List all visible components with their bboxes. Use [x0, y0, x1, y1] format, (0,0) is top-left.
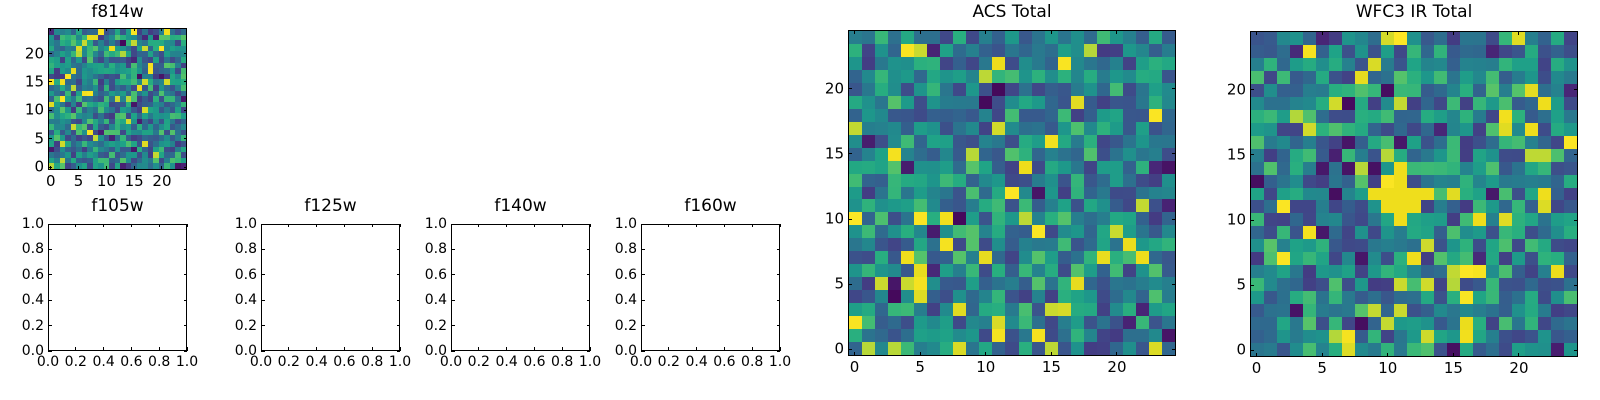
x-tick-label-wfc3-0: 0 [1252, 361, 1262, 376]
x-tick-f125w-1 [288, 347, 289, 351]
y-tick-f160w-1 [641, 325, 645, 326]
x-tick-top-acs-4 [1116, 30, 1117, 34]
y-tick-label-f140w-3: 0.6 [409, 268, 447, 282]
heatmap-wfc3-ir-total [1251, 32, 1577, 356]
y-tick-wfc3-3 [1250, 154, 1254, 155]
x-tick-wfc3-1 [1322, 353, 1323, 357]
y-tick-f814w-0 [48, 167, 52, 168]
y-tick-label-wfc3-4: 20 [1208, 82, 1246, 97]
panel-f814w: f814w [48, 4, 187, 170]
y-tick-f814w-1 [48, 138, 52, 139]
x-tick-label-wfc3-4: 20 [1509, 361, 1528, 376]
panel-acs-total: ACS Total [848, 4, 1176, 356]
x-tick-f105w-3 [131, 347, 132, 351]
x-tick-label-acs-0: 0 [850, 360, 860, 375]
y-tick-label-wfc3-3: 15 [1208, 147, 1246, 162]
plot-area-f125w[interactable] [261, 224, 400, 351]
y-tick-f105w-1 [48, 325, 52, 326]
x-tick-top-f814w-0 [50, 28, 51, 31]
y-tick-f140w-2 [451, 300, 455, 301]
x-tick-top-f140w-1 [478, 224, 479, 227]
x-tick-f105w-1 [75, 347, 76, 351]
y-tick-label-acs-1: 5 [806, 277, 844, 292]
y-tick-label-f125w-0: 0.0 [219, 344, 257, 358]
y-tick-label-wfc3-1: 5 [1208, 278, 1246, 293]
y-tick-right-acs-2 [1172, 219, 1176, 220]
y-tick-right-f105w-2 [184, 300, 187, 301]
panel-title-f105w: f105w [48, 198, 187, 215]
y-tick-wfc3-1 [1250, 285, 1254, 286]
x-tick-label-f140w-3: 0.6 [523, 355, 545, 369]
x-tick-wfc3-0 [1256, 353, 1257, 357]
x-tick-label-acs-3: 15 [1042, 360, 1061, 375]
x-tick-label-f160w-1: 0.2 [658, 355, 680, 369]
y-tick-right-f160w-5 [777, 224, 780, 225]
y-tick-label-wfc3-0: 0 [1208, 343, 1246, 358]
y-tick-label-f105w-0: 0.0 [6, 344, 44, 358]
y-tick-acs-4 [848, 88, 852, 89]
y-tick-right-f125w-0 [397, 351, 400, 352]
x-tick-label-f814w-0: 0 [46, 174, 56, 189]
x-tick-label-acs-2: 10 [976, 360, 995, 375]
x-tick-top-f160w-3 [724, 224, 725, 227]
x-tick-label-f140w-5: 1.0 [579, 355, 601, 369]
x-tick-f814w-1 [78, 166, 79, 170]
x-tick-top-f125w-0 [261, 224, 262, 227]
y-tick-right-f105w-5 [184, 224, 187, 225]
x-tick-label-f140w-2: 0.4 [495, 355, 517, 369]
x-tick-acs-3 [1051, 352, 1052, 356]
plot-area-f814w[interactable] [48, 28, 187, 170]
y-tick-label-acs-2: 10 [806, 212, 844, 227]
panel-title-f814w: f814w [48, 4, 187, 21]
y-tick-right-f140w-5 [587, 224, 590, 225]
x-tick-label-f814w-1: 5 [74, 174, 84, 189]
y-tick-acs-2 [848, 219, 852, 220]
y-tick-f105w-0 [48, 351, 52, 352]
heatmap-f814w [49, 29, 186, 169]
x-tick-label-f125w-2: 0.4 [305, 355, 327, 369]
x-tick-f160w-4 [752, 347, 753, 351]
y-tick-right-f814w-1 [184, 138, 187, 139]
x-tick-top-f814w-2 [106, 28, 107, 31]
y-tick-right-f814w-2 [184, 110, 187, 111]
y-tick-f160w-0 [641, 351, 645, 352]
x-tick-f814w-2 [106, 166, 107, 170]
y-tick-label-acs-3: 15 [806, 146, 844, 161]
x-tick-top-f125w-1 [288, 224, 289, 227]
y-tick-label-acs-0: 0 [806, 342, 844, 357]
y-tick-wfc3-2 [1250, 220, 1254, 221]
x-tick-label-wfc3-2: 10 [1378, 361, 1397, 376]
x-tick-acs-1 [920, 352, 921, 356]
x-tick-f105w-2 [103, 347, 104, 351]
x-tick-top-f125w-3 [344, 224, 345, 227]
x-tick-top-f140w-2 [506, 224, 507, 227]
y-tick-label-f105w-1: 0.2 [6, 319, 44, 333]
x-tick-f814w-4 [161, 166, 162, 170]
x-tick-top-f814w-4 [161, 28, 162, 31]
y-tick-wfc3-4 [1250, 89, 1254, 90]
x-tick-top-wfc3-0 [1256, 31, 1257, 35]
y-tick-label-f814w-3: 15 [6, 74, 44, 89]
x-tick-f140w-3 [534, 347, 535, 351]
y-tick-label-f125w-2: 0.4 [219, 293, 257, 307]
x-tick-label-f160w-5: 1.0 [769, 355, 791, 369]
y-tick-right-acs-0 [1172, 349, 1176, 350]
y-tick-acs-1 [848, 284, 852, 285]
y-tick-label-f125w-5: 1.0 [219, 217, 257, 231]
y-tick-f125w-5 [261, 224, 265, 225]
y-tick-acs-3 [848, 153, 852, 154]
x-tick-top-f814w-3 [134, 28, 135, 31]
x-tick-acs-4 [1116, 352, 1117, 356]
plot-area-f105w[interactable] [48, 224, 187, 351]
x-tick-top-f140w-3 [534, 224, 535, 227]
y-tick-right-wfc3-2 [1574, 220, 1578, 221]
y-tick-f160w-2 [641, 300, 645, 301]
x-tick-label-f125w-5: 1.0 [389, 355, 411, 369]
panel-title-wfc3-ir-total: WFC3 IR Total [1250, 4, 1578, 21]
plot-area-acs-total[interactable] [848, 30, 1176, 356]
y-tick-f105w-3 [48, 274, 52, 275]
y-tick-f160w-4 [641, 249, 645, 250]
y-tick-right-acs-4 [1172, 88, 1176, 89]
panel-title-f160w: f160w [641, 198, 780, 215]
x-tick-label-f814w-4: 20 [152, 174, 171, 189]
y-tick-label-f140w-0: 0.0 [409, 344, 447, 358]
x-tick-f814w-3 [134, 166, 135, 170]
y-tick-f125w-2 [261, 300, 265, 301]
x-tick-top-f105w-1 [75, 224, 76, 227]
panel-f105w: f105w [48, 198, 187, 353]
y-tick-acs-0 [848, 349, 852, 350]
x-tick-label-f814w-3: 15 [125, 174, 144, 189]
x-tick-f140w-4 [562, 347, 563, 351]
plot-area-f160w[interactable] [641, 224, 780, 351]
y-tick-label-f105w-5: 1.0 [6, 217, 44, 231]
x-tick-label-f140w-1: 0.2 [468, 355, 490, 369]
y-tick-f125w-4 [261, 249, 265, 250]
y-tick-right-wfc3-1 [1574, 285, 1578, 286]
y-tick-right-f814w-3 [184, 81, 187, 82]
x-tick-top-f125w-2 [316, 224, 317, 227]
y-tick-f140w-0 [451, 351, 455, 352]
x-tick-label-f160w-3: 0.6 [713, 355, 735, 369]
x-tick-label-f125w-4: 0.8 [361, 355, 383, 369]
x-tick-label-f105w-2: 0.4 [92, 355, 114, 369]
x-tick-f160w-2 [696, 347, 697, 351]
x-tick-top-f160w-1 [668, 224, 669, 227]
y-tick-label-f160w-5: 1.0 [599, 217, 637, 231]
y-tick-right-f105w-1 [184, 325, 187, 326]
x-tick-top-wfc3-3 [1453, 31, 1454, 35]
y-tick-f140w-1 [451, 325, 455, 326]
y-tick-right-acs-3 [1172, 153, 1176, 154]
x-tick-acs-2 [985, 352, 986, 356]
y-tick-right-f160w-0 [777, 351, 780, 352]
x-tick-f105w-4 [159, 347, 160, 351]
x-tick-label-f125w-3: 0.6 [333, 355, 355, 369]
x-tick-top-acs-1 [920, 30, 921, 34]
x-tick-wfc3-3 [1453, 353, 1454, 357]
x-tick-label-f125w-1: 0.2 [278, 355, 300, 369]
x-tick-wfc3-2 [1387, 353, 1388, 357]
y-tick-label-f814w-4: 20 [6, 46, 44, 61]
x-tick-wfc3-4 [1518, 353, 1519, 357]
y-tick-f125w-0 [261, 351, 265, 352]
y-tick-right-f125w-5 [397, 224, 400, 225]
x-tick-f140w-1 [478, 347, 479, 351]
y-tick-label-f140w-5: 1.0 [409, 217, 447, 231]
x-tick-label-f105w-5: 1.0 [176, 355, 198, 369]
y-tick-right-wfc3-3 [1574, 154, 1578, 155]
x-tick-top-acs-2 [985, 30, 986, 34]
x-tick-top-wfc3-1 [1322, 31, 1323, 35]
y-tick-right-f140w-4 [587, 249, 590, 250]
y-tick-f814w-4 [48, 53, 52, 54]
y-tick-right-f160w-1 [777, 325, 780, 326]
y-tick-right-f105w-4 [184, 249, 187, 250]
y-tick-right-wfc3-0 [1574, 350, 1578, 351]
y-tick-label-f160w-3: 0.6 [599, 268, 637, 282]
y-tick-right-f160w-3 [777, 274, 780, 275]
x-tick-top-f105w-0 [48, 224, 49, 227]
x-tick-top-f105w-4 [159, 224, 160, 227]
x-tick-f160w-3 [724, 347, 725, 351]
y-tick-f125w-3 [261, 274, 265, 275]
y-tick-right-f160w-4 [777, 249, 780, 250]
x-tick-label-f160w-4: 0.8 [741, 355, 763, 369]
y-tick-f140w-3 [451, 274, 455, 275]
y-tick-f160w-3 [641, 274, 645, 275]
y-tick-right-f105w-0 [184, 351, 187, 352]
x-tick-label-acs-4: 20 [1107, 360, 1126, 375]
y-tick-f814w-2 [48, 110, 52, 111]
y-tick-label-f105w-4: 0.8 [6, 242, 44, 256]
y-tick-label-f160w-0: 0.0 [599, 344, 637, 358]
x-tick-top-acs-0 [854, 30, 855, 34]
x-tick-label-f160w-2: 0.4 [685, 355, 707, 369]
x-tick-label-f105w-3: 0.6 [120, 355, 142, 369]
x-tick-top-f105w-3 [131, 224, 132, 227]
y-tick-right-f125w-3 [397, 274, 400, 275]
y-tick-right-f105w-3 [184, 274, 187, 275]
y-tick-wfc3-0 [1250, 350, 1254, 351]
y-tick-label-f160w-4: 0.8 [599, 242, 637, 256]
y-tick-right-f125w-2 [397, 300, 400, 301]
y-tick-right-f814w-0 [184, 167, 187, 168]
x-tick-label-f814w-2: 10 [97, 174, 116, 189]
x-tick-top-wfc3-4 [1518, 31, 1519, 35]
x-tick-f125w-4 [372, 347, 373, 351]
x-tick-label-f140w-4: 0.8 [551, 355, 573, 369]
y-tick-right-f140w-0 [587, 351, 590, 352]
y-tick-right-f140w-2 [587, 300, 590, 301]
y-tick-right-f160w-2 [777, 300, 780, 301]
matplotlib-figure: f814w f105w f125w f140w f160w ACS Total … [0, 0, 1600, 400]
x-tick-top-f160w-2 [696, 224, 697, 227]
y-tick-right-wfc3-4 [1574, 89, 1578, 90]
heatmap-acs-total [849, 31, 1175, 355]
x-tick-top-wfc3-2 [1387, 31, 1388, 35]
x-tick-label-acs-1: 5 [915, 360, 925, 375]
y-tick-label-wfc3-2: 10 [1208, 213, 1246, 228]
x-tick-f140w-2 [506, 347, 507, 351]
y-tick-f814w-3 [48, 81, 52, 82]
x-tick-top-f814w-1 [78, 28, 79, 31]
panel-title-acs-total: ACS Total [848, 4, 1176, 21]
y-tick-label-f160w-2: 0.4 [599, 293, 637, 307]
y-tick-f125w-1 [261, 325, 265, 326]
y-tick-label-f140w-4: 0.8 [409, 242, 447, 256]
panel-wfc3-ir-total: WFC3 IR Total [1250, 4, 1578, 357]
y-tick-label-f814w-2: 10 [6, 103, 44, 118]
y-tick-right-f814w-4 [184, 53, 187, 54]
y-tick-right-f140w-1 [587, 325, 590, 326]
y-tick-label-f125w-3: 0.6 [219, 268, 257, 282]
x-tick-top-f125w-4 [372, 224, 373, 227]
x-tick-top-f140w-0 [451, 224, 452, 227]
x-tick-f125w-3 [344, 347, 345, 351]
plot-area-wfc3-ir-total[interactable] [1250, 31, 1578, 357]
x-tick-top-f160w-4 [752, 224, 753, 227]
y-tick-f160w-5 [641, 224, 645, 225]
y-tick-right-f125w-4 [397, 249, 400, 250]
x-tick-label-f105w-1: 0.2 [65, 355, 87, 369]
x-tick-f125w-2 [316, 347, 317, 351]
y-tick-label-f814w-0: 0 [6, 160, 44, 175]
y-tick-label-f814w-1: 5 [6, 131, 44, 146]
panel-f125w: f125w [261, 198, 400, 353]
panel-title-f125w: f125w [261, 198, 400, 215]
y-tick-label-f105w-3: 0.6 [6, 268, 44, 282]
y-tick-label-f105w-2: 0.4 [6, 293, 44, 307]
y-tick-label-f125w-1: 0.2 [219, 319, 257, 333]
y-tick-label-f140w-1: 0.2 [409, 319, 447, 333]
x-tick-acs-0 [854, 352, 855, 356]
x-tick-top-f105w-2 [103, 224, 104, 227]
y-tick-f105w-4 [48, 249, 52, 250]
x-tick-f160w-1 [668, 347, 669, 351]
y-tick-f105w-2 [48, 300, 52, 301]
x-tick-label-wfc3-1: 5 [1317, 361, 1327, 376]
y-tick-f140w-5 [451, 224, 455, 225]
panel-f160w: f160w [641, 198, 780, 353]
panel-f140w: f140w [451, 198, 590, 353]
plot-area-f140w[interactable] [451, 224, 590, 351]
x-tick-top-f160w-0 [641, 224, 642, 227]
x-tick-top-f140w-4 [562, 224, 563, 227]
y-tick-right-f125w-1 [397, 325, 400, 326]
y-tick-label-f125w-4: 0.8 [219, 242, 257, 256]
y-tick-f105w-5 [48, 224, 52, 225]
y-tick-label-f140w-2: 0.4 [409, 293, 447, 307]
y-tick-label-acs-4: 20 [806, 81, 844, 96]
y-tick-f140w-4 [451, 249, 455, 250]
y-tick-right-acs-1 [1172, 284, 1176, 285]
panel-title-f140w: f140w [451, 198, 590, 215]
x-tick-top-acs-3 [1051, 30, 1052, 34]
y-tick-right-f140w-3 [587, 274, 590, 275]
x-tick-label-wfc3-3: 15 [1444, 361, 1463, 376]
y-tick-label-f160w-1: 0.2 [599, 319, 637, 333]
x-tick-label-f105w-4: 0.8 [148, 355, 170, 369]
